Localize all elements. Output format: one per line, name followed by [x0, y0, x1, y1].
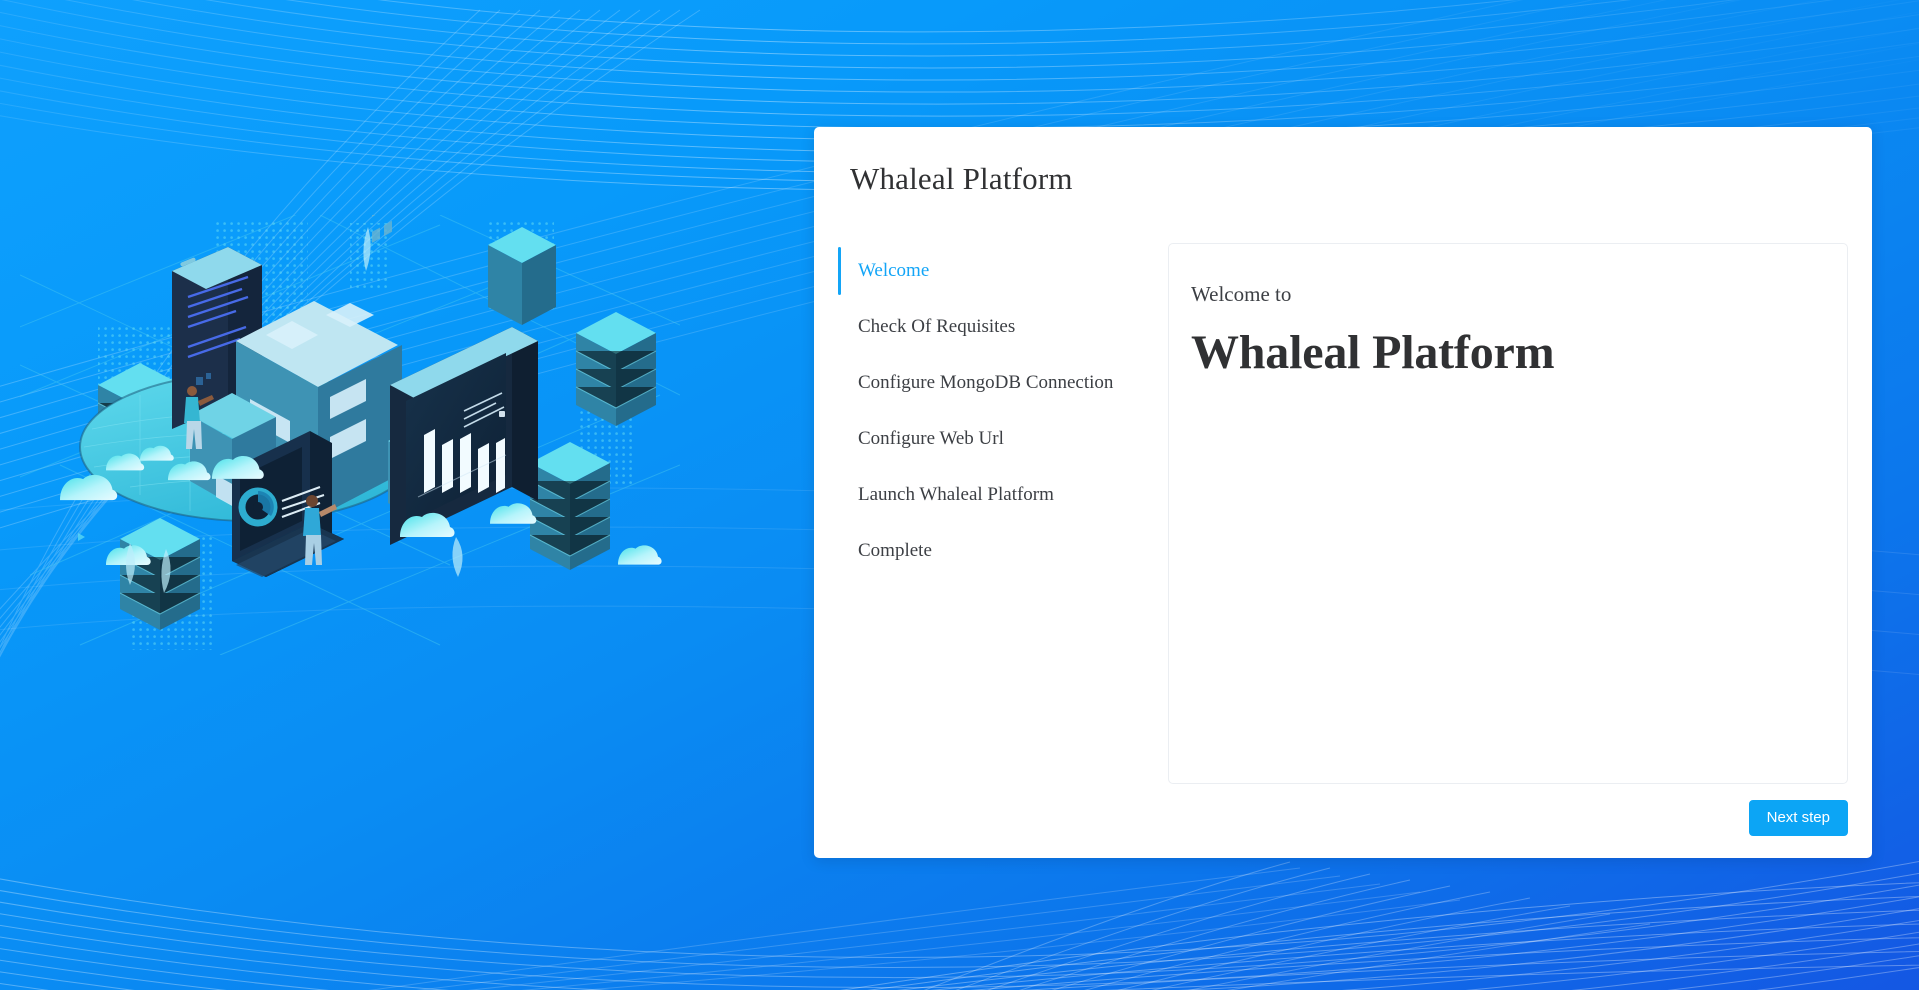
- step-indicator: [838, 415, 841, 463]
- sidebar-item-label: Complete: [858, 540, 932, 562]
- content-panel: Welcome to Whaleal Platform: [1168, 243, 1848, 784]
- card-footer: Next step: [1749, 800, 1848, 836]
- card-body: Welcome Check Of Requisites Configure Mo…: [814, 199, 1872, 784]
- installer-card: Whaleal Platform Welcome Check Of Requis…: [814, 127, 1872, 858]
- sidebar-item-label: Launch Whaleal Platform: [858, 484, 1054, 506]
- active-step-indicator: [838, 247, 841, 295]
- sidebar-item-launch-whaleal-platform[interactable]: Launch Whaleal Platform: [838, 467, 1148, 523]
- sidebar-item-complete[interactable]: Complete: [838, 523, 1148, 579]
- welcome-kicker: Welcome to: [1191, 280, 1847, 309]
- sidebar-item-configure-web-url[interactable]: Configure Web Url: [838, 411, 1148, 467]
- next-step-button[interactable]: Next step: [1749, 800, 1848, 836]
- welcome-heading: Whaleal Platform: [1191, 324, 1847, 382]
- sidebar-item-welcome[interactable]: Welcome: [838, 243, 1148, 299]
- step-indicator: [838, 303, 841, 351]
- step-indicator: [838, 527, 841, 575]
- hero-illustration: [20, 215, 680, 655]
- sidebar-item-label: Check Of Requisites: [858, 316, 1015, 338]
- sidebar-item-check-of-requisites[interactable]: Check Of Requisites: [838, 299, 1148, 355]
- sidebar-item-configure-mongodb-connection[interactable]: Configure MongoDB Connection: [838, 355, 1148, 411]
- sidebar-item-label: Configure Web Url: [858, 428, 1004, 450]
- isometric-platform-graphic: [20, 215, 680, 655]
- sidebar-item-label: Configure MongoDB Connection: [858, 372, 1113, 394]
- sidebar-item-label: Welcome: [858, 260, 929, 282]
- step-indicator: [838, 359, 841, 407]
- steps-sidebar: Welcome Check Of Requisites Configure Mo…: [838, 243, 1148, 784]
- page-title: Whaleal Platform: [814, 127, 1872, 199]
- step-indicator: [838, 471, 841, 519]
